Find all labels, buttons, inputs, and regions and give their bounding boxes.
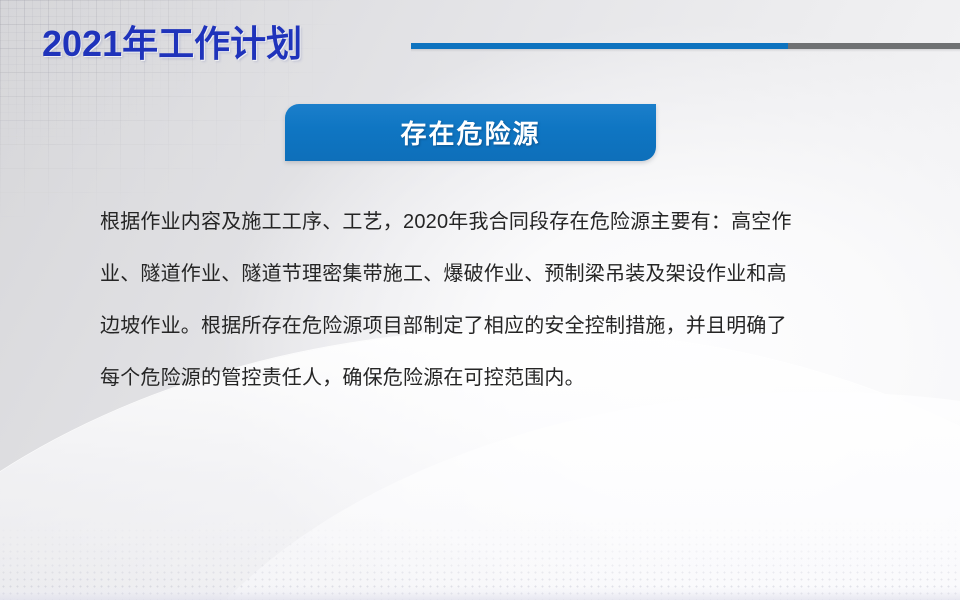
section-heading-label: 存在危险源 [400,114,540,151]
section-heading-banner: 存在危险源 [285,104,656,161]
body-line: 每个危险源的管控责任人，确保危险源在可控范围内。 [100,352,860,404]
body-paragraph: 根据作业内容及施工工序、工艺，2020年我合同段存在危险源主要有：高空作 业、隧… [100,196,860,404]
body-line: 业、隧道作业、隧道节理密集带施工、爆破作业、预制梁吊装及架设作业和高 [100,248,860,300]
header-divider-rule [411,43,960,49]
presentation-slide: 2021年工作计划 存在危险源 根据作业内容及施工工序、工艺，2020年我合同段… [0,0,960,600]
header-rule-shadow [411,49,960,52]
background-bottom-band [0,586,960,600]
slide-title: 2021年工作计划 [42,22,302,66]
body-line: 边坡作业。根据所存在危险源项目部制定了相应的安全控制措施，并且明确了 [100,300,860,352]
body-line: 根据作业内容及施工工序、工艺，2020年我合同段存在危险源主要有：高空作 [100,196,860,248]
